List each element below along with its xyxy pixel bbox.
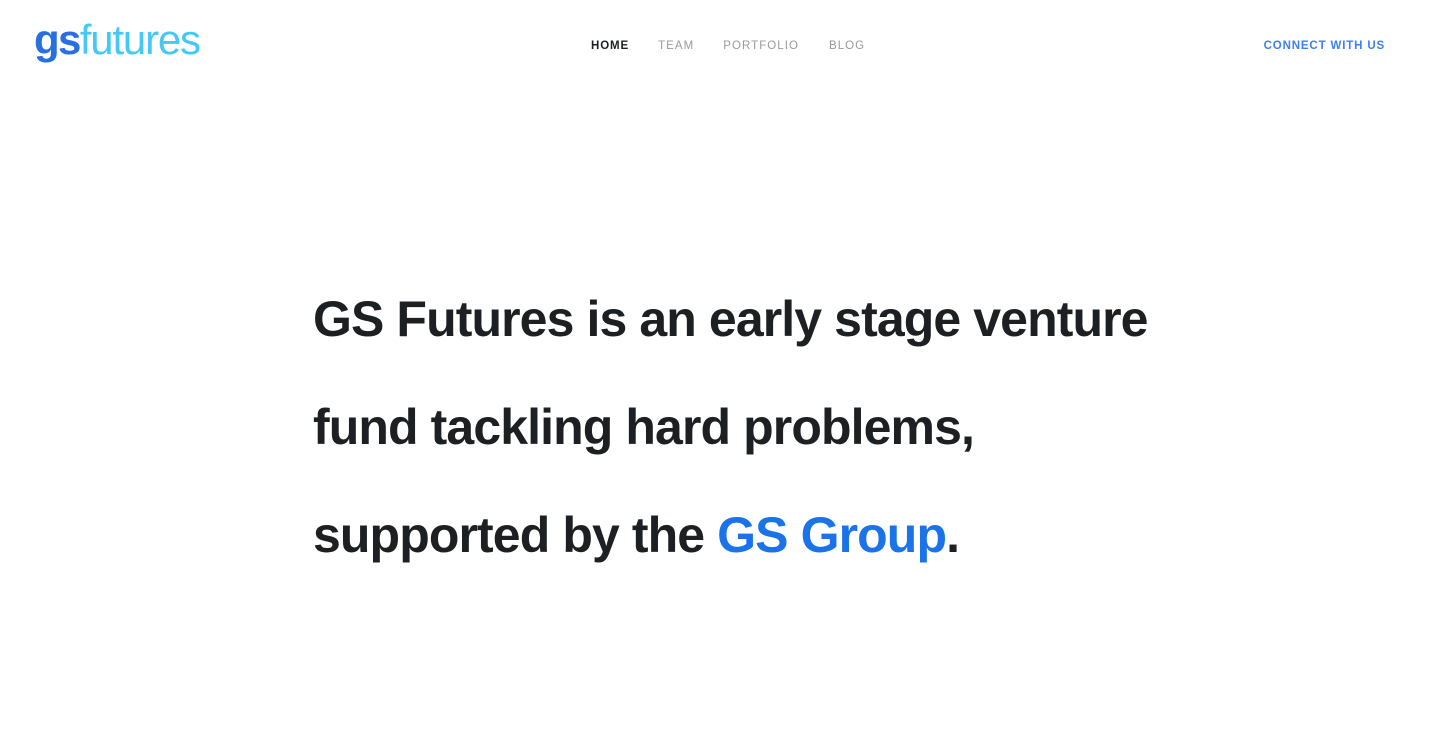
main-navigation: HOME TEAM PORTFOLIO BLOG xyxy=(591,39,865,54)
page-root: gsfutures HOME TEAM PORTFOLIO BLOG CONNE… xyxy=(0,0,1440,745)
hero-headline-line-3: supported by the GS Group. xyxy=(313,508,1113,562)
hero-headline-line-2: fund tackling hard problems, xyxy=(313,400,1113,454)
nav-item-team[interactable]: TEAM xyxy=(658,39,694,54)
hero-headline: GS Futures is an early stage venture fun… xyxy=(313,238,1113,616)
nav-item-home[interactable]: HOME xyxy=(591,39,629,54)
connect-with-us-link[interactable]: CONNECT WITH US xyxy=(1264,39,1385,54)
nav-item-blog[interactable]: BLOG xyxy=(829,39,865,54)
hero-headline-line-1: GS Futures is an early stage venture xyxy=(313,292,1113,346)
brand-logo-gs: gs xyxy=(34,16,80,63)
gs-group-link[interactable]: GS Group xyxy=(717,507,946,563)
hero-section: GS Futures is an early stage venture fun… xyxy=(313,238,1113,616)
brand-logo[interactable]: gsfutures xyxy=(34,19,200,61)
nav-item-portfolio[interactable]: PORTFOLIO xyxy=(723,39,799,54)
site-header: gsfutures HOME TEAM PORTFOLIO BLOG CONNE… xyxy=(0,0,1440,92)
hero-headline-period: . xyxy=(946,507,959,563)
brand-logo-futures: futures xyxy=(80,16,200,63)
hero-headline-prefix: supported by the xyxy=(313,507,717,563)
